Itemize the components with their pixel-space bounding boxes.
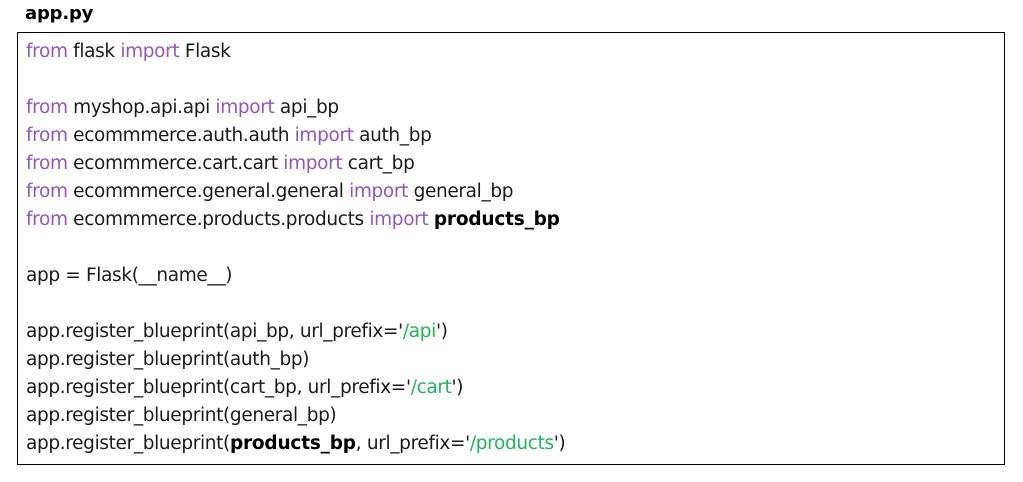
code-token-kw: import [215, 97, 274, 118]
code-line-blank [26, 290, 1004, 318]
code-token-bold: products_bp [434, 209, 560, 230]
code-token-str: /api [403, 321, 436, 342]
code-line: app.register_blueprint(general_bp) [26, 402, 1004, 430]
code-line: from ecommmerce.auth.auth import auth_bp [26, 122, 1004, 150]
code-token-plain: app.register_blueprint(general_bp) [26, 405, 336, 426]
code-line: app.register_blueprint(products_bp, url_… [26, 430, 1004, 458]
code-token-plain: app.register_blueprint(api_bp, url_prefi… [26, 321, 398, 342]
code-token-kw: from [26, 125, 68, 146]
code-token-plain: app.register_blueprint( [26, 433, 230, 454]
code-line: app.register_blueprint(auth_bp) [26, 346, 1004, 374]
code-line-list: from flask import Flask from myshop.api.… [26, 38, 1004, 458]
code-block: from flask import Flask from myshop.api.… [17, 32, 1005, 465]
code-line: from ecommmerce.cart.cart import cart_bp [26, 150, 1004, 178]
code-token-plain: flask [68, 41, 121, 62]
code-token-kw: import [120, 41, 179, 62]
code-token-kw: from [26, 181, 68, 202]
code-snippet-figure: app.py from flask import Flask from mysh… [0, 0, 1023, 482]
code-line: app.register_blueprint(api_bp, url_prefi… [26, 318, 1004, 346]
code-line: from ecommmerce.products.products import… [26, 206, 1004, 234]
code-token-kw: from [26, 153, 68, 174]
code-token-plain: ecommmerce.general.general [68, 181, 349, 202]
code-token-plain: ) [456, 377, 463, 398]
code-token-str: /cart [411, 377, 452, 398]
code-token-kw: from [26, 97, 68, 118]
code-line-blank [26, 66, 1004, 94]
code-token-kw: import [283, 153, 342, 174]
code-line: app = Flask(__name__) [26, 262, 1004, 290]
code-token-plain: general_bp [408, 181, 513, 202]
code-token-kw: import [369, 209, 428, 230]
code-token-plain: Flask [179, 41, 230, 62]
code-line-blank [26, 234, 1004, 262]
code-line: from myshop.api.api import api_bp [26, 94, 1004, 122]
code-token-plain: ecommmerce.cart.cart [68, 153, 284, 174]
code-line: from ecommmerce.general.general import g… [26, 178, 1004, 206]
code-token-kw: from [26, 41, 68, 62]
code-token-bold: products_bp [230, 433, 356, 454]
code-line: app.register_blueprint(cart_bp, url_pref… [26, 374, 1004, 402]
code-token-plain: app.register_blueprint(auth_bp) [26, 349, 309, 370]
code-token-plain: ecommmerce.auth.auth [68, 125, 295, 146]
code-token-plain: , url_prefix= [356, 433, 465, 454]
code-token-kw: import [295, 125, 354, 146]
code-token-plain: ) [441, 321, 448, 342]
code-token-kw: from [26, 209, 68, 230]
code-token-plain: myshop.api.api [68, 97, 216, 118]
code-token-plain: cart_bp [342, 153, 414, 174]
code-token-plain: app = Flask(__name__) [26, 265, 232, 286]
code-token-plain: api_bp [274, 97, 338, 118]
code-token-plain: auth_bp [354, 125, 432, 146]
code-token-plain: app.register_blueprint(cart_bp, url_pref… [26, 377, 406, 398]
code-token-kw: import [349, 181, 408, 202]
code-token-plain: ) [559, 433, 566, 454]
code-token-plain: ecommmerce.products.products [68, 209, 370, 230]
code-token-str: /products [470, 433, 554, 454]
file-name-label: app.py [25, 3, 93, 24]
code-line: from flask import Flask [26, 38, 1004, 66]
